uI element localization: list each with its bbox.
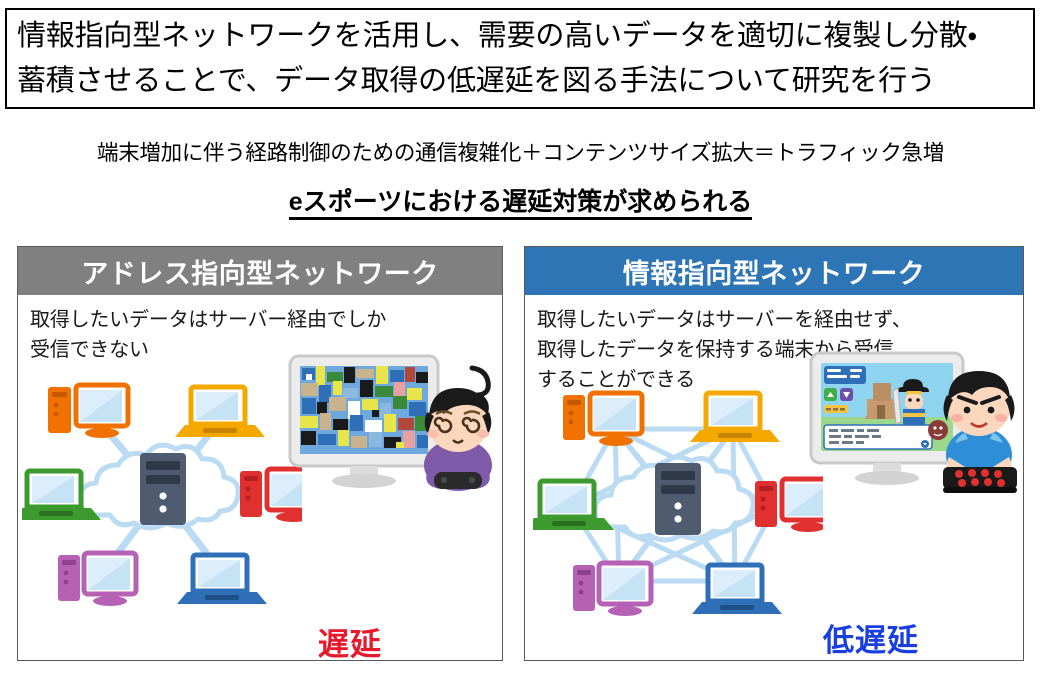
network-diagram-mesh: [533, 385, 823, 633]
central-server-icon: [655, 463, 701, 535]
node-blue-laptop: [692, 565, 782, 614]
title-line-2: 蓄積させることで、データ取得の低遅延を図る手法について研究を行う: [17, 59, 1027, 104]
illustration-low-lag: [807, 347, 1025, 529]
node-purple-desktop: [573, 563, 651, 616]
monitor-game-icon: [811, 353, 963, 485]
panel-header-information-centric: 情報指向型ネットワーク: [525, 247, 1023, 295]
slide-root: 情報指向型ネットワークを活用し、需要の高いデータを適切に複製し分散・ 蓄積させる…: [0, 0, 1041, 673]
subtitle-text: 端末増加に伴う経路制御のための通信複雑化＋コンテンツサイズ拡大＝トラフィック急増: [0, 136, 1041, 167]
panel-information-centric: 情報指向型ネットワーク 取得したいデータはサーバーを経由せず、 取得したデータを…: [524, 246, 1024, 661]
central-server-icon: [140, 453, 186, 525]
title-box: 情報指向型ネットワークを活用し、需要の高いデータを適切に複製し分散・ 蓄積させる…: [5, 8, 1035, 109]
node-blue-laptop: [177, 555, 267, 604]
title-line-1: 情報指向型ネットワークを活用し、需要の高いデータを適切に複製し分散・: [17, 14, 1027, 59]
panel-body-address-oriented: 取得したいデータはサーバー経由でしか 受信できない: [18, 295, 502, 660]
network-diagram-star: [22, 375, 302, 625]
node-yellow-laptop: [690, 393, 780, 442]
illustration-lag: [286, 350, 501, 530]
game-scene: [821, 363, 953, 451]
latency-label-lag: 遅延: [318, 619, 382, 664]
latency-label-low-lag: 低遅延: [823, 615, 919, 660]
monitor-glitched-icon: [290, 356, 438, 488]
panel-body-information-centric: 取得したいデータはサーバーを経由せず、 取得したデータを保持する端末から受信 す…: [525, 295, 1023, 660]
slogan-underlined: eスポーツにおける遅延対策が求められる: [289, 188, 752, 220]
glitch-noise: [300, 366, 428, 454]
node-purple-desktop: [58, 553, 136, 606]
node-yellow-laptop: [175, 387, 265, 437]
slogan-text: eスポーツにおける遅延対策が求められる: [0, 182, 1041, 218]
node-orange-desktop: [48, 385, 128, 438]
panel-address-oriented: アドレス指向型ネットワーク 取得したいデータはサーバー経由でしか 受信できない: [17, 246, 503, 661]
panel-header-address-oriented: アドレス指向型ネットワーク: [18, 247, 502, 295]
